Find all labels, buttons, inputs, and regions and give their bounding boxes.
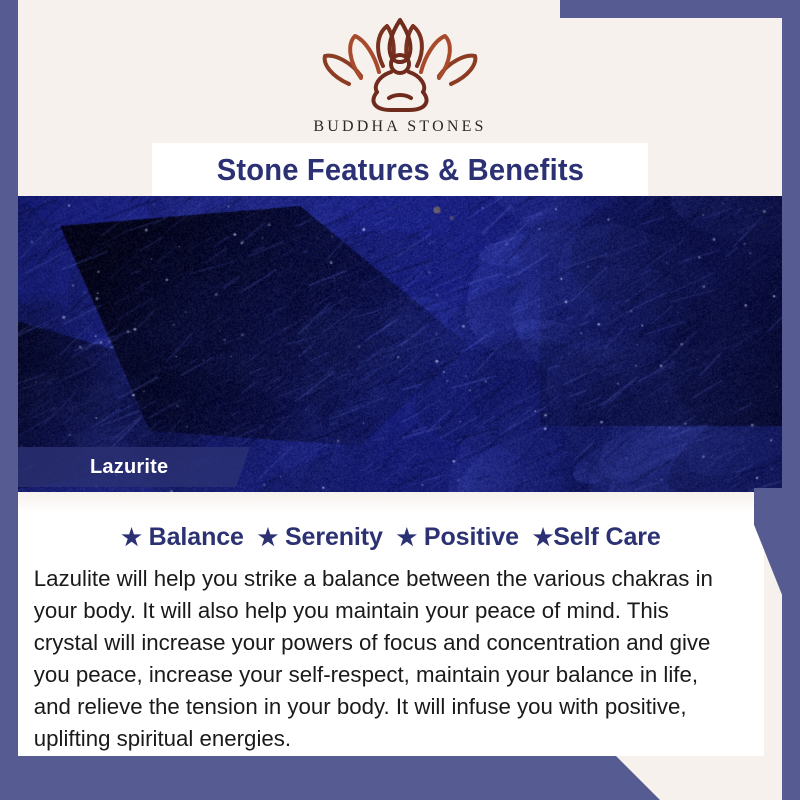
keyword-label-serenity: Serenity xyxy=(285,523,383,551)
star-icon-1: ★ xyxy=(121,524,142,550)
frame-right-border xyxy=(782,0,800,800)
page-title: Stone Features & Benefits xyxy=(216,152,583,188)
stone-benefits-poster: BUDDHA STONES Stone Features & Benefits … xyxy=(0,0,800,800)
keyword-label-self-care: Self Care xyxy=(553,523,661,551)
kw-space-2 xyxy=(278,523,285,551)
brand-logo: BUDDHA STONES xyxy=(0,14,800,136)
kw-space-1 xyxy=(244,523,258,551)
keyword-balance xyxy=(142,523,149,551)
content-card: ★ Balance ★ Serenity ★ Positive ★Self Ca… xyxy=(18,492,764,756)
stone-name-label: Lazurite xyxy=(18,456,168,479)
keyword-label-balance: Balance xyxy=(149,523,244,551)
kw-space-3 xyxy=(383,523,397,551)
keyword-label-positive: Positive xyxy=(424,523,519,551)
kw-space-5 xyxy=(519,523,533,551)
kw-space-4 xyxy=(417,523,424,551)
stone-description: Lazulite will help you strike a balance … xyxy=(18,552,753,755)
keyword-row: ★ Balance ★ Serenity ★ Positive ★Self Ca… xyxy=(18,492,764,552)
stone-name-badge: Lazurite xyxy=(18,447,250,487)
frame-left-border xyxy=(0,0,18,800)
frame-top-right-border xyxy=(560,0,800,18)
lotus-meditation-figure-icon xyxy=(305,14,495,116)
star-icon-2: ★ xyxy=(258,524,279,550)
frame-bottom-border xyxy=(0,756,800,800)
star-icon-4: ★ xyxy=(533,524,554,550)
brand-name: BUDDHA STONES xyxy=(0,118,800,136)
star-icon-3: ★ xyxy=(397,524,418,550)
title-banner: Stone Features & Benefits xyxy=(152,143,648,196)
